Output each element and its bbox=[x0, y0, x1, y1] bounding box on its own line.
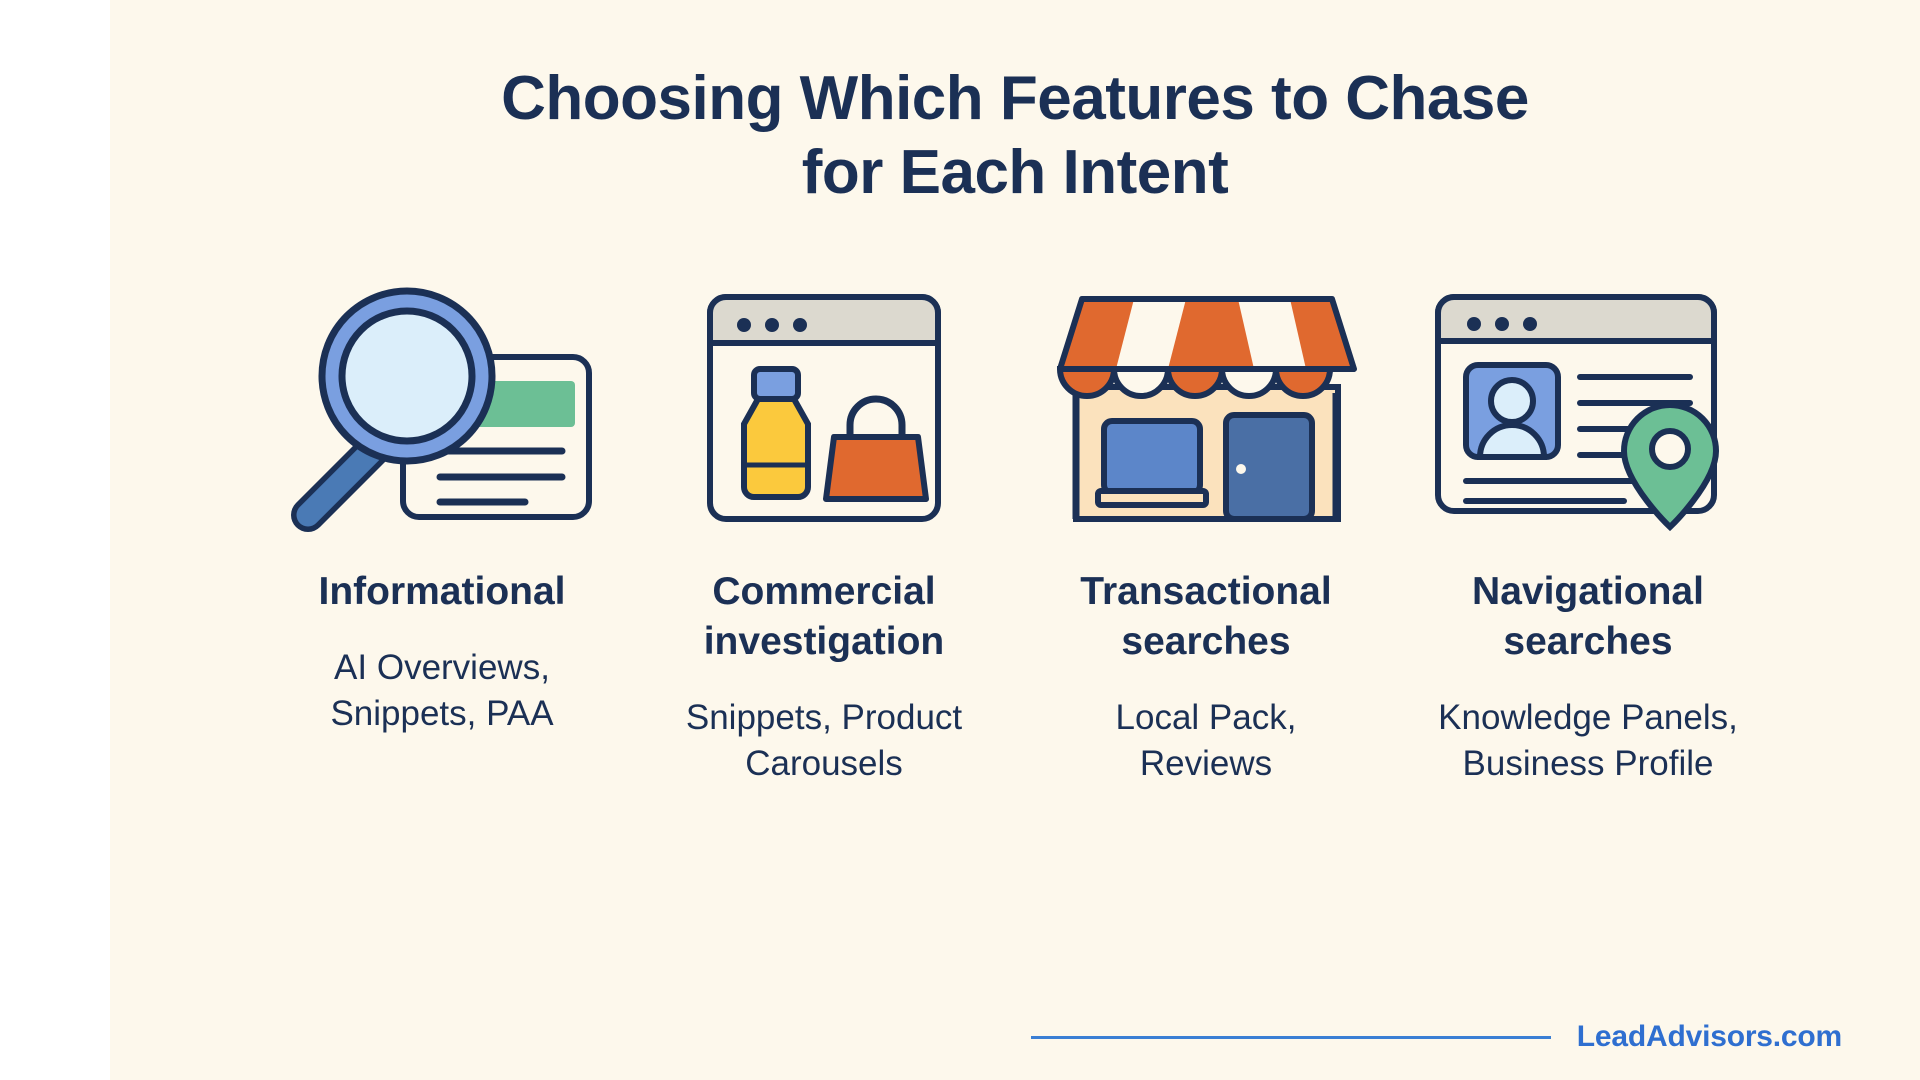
intent-columns: Informational AI Overviews, Snippets, PA… bbox=[165, 269, 1865, 788]
magnifier-document-icon bbox=[272, 269, 612, 537]
footer-divider bbox=[1031, 1036, 1551, 1039]
page-title: Choosing Which Features to Chase for Eac… bbox=[305, 62, 1725, 211]
left-accent-rail bbox=[0, 0, 110, 1080]
storefront-icon bbox=[1036, 269, 1376, 537]
title-line-2: for Each Intent bbox=[305, 136, 1725, 210]
storefront-illustration bbox=[1036, 269, 1376, 537]
infographic-canvas: Choosing Which Features to Chase for Eac… bbox=[110, 0, 1920, 1080]
column-title: Navigational searches bbox=[1423, 567, 1753, 667]
profile-card-map-pin-illustration bbox=[1418, 269, 1758, 537]
column-description: Local Pack, Reviews bbox=[1046, 695, 1366, 788]
browser-products-illustration bbox=[654, 269, 994, 537]
column-title: Informational bbox=[318, 567, 565, 617]
column-title: Commercial investigation bbox=[659, 567, 989, 667]
title-line-1: Choosing Which Features to Chase bbox=[305, 62, 1725, 136]
column-description: AI Overviews, Snippets, PAA bbox=[282, 645, 602, 738]
intent-column-transactional: Transactional searches Local Pack, Revie… bbox=[1015, 269, 1397, 788]
intent-column-commercial-investigation: Commercial investigation Snippets, Produ… bbox=[633, 269, 1015, 788]
profile-card-map-pin-icon bbox=[1418, 269, 1758, 537]
intent-column-informational: Informational AI Overviews, Snippets, PA… bbox=[251, 269, 633, 738]
browser-products-icon bbox=[654, 269, 994, 537]
magnifier-document-illustration bbox=[272, 269, 612, 537]
intent-column-navigational: Navigational searches Knowledge Panels, … bbox=[1397, 269, 1779, 788]
column-description: Knowledge Panels, Business Profile bbox=[1428, 695, 1748, 788]
brand-name[interactable]: LeadAdvisors.com bbox=[1577, 1020, 1842, 1054]
footer: LeadAdvisors.com bbox=[110, 1020, 1920, 1054]
column-title: Transactional searches bbox=[1041, 567, 1371, 667]
column-description: Snippets, Product Carousels bbox=[664, 695, 984, 788]
